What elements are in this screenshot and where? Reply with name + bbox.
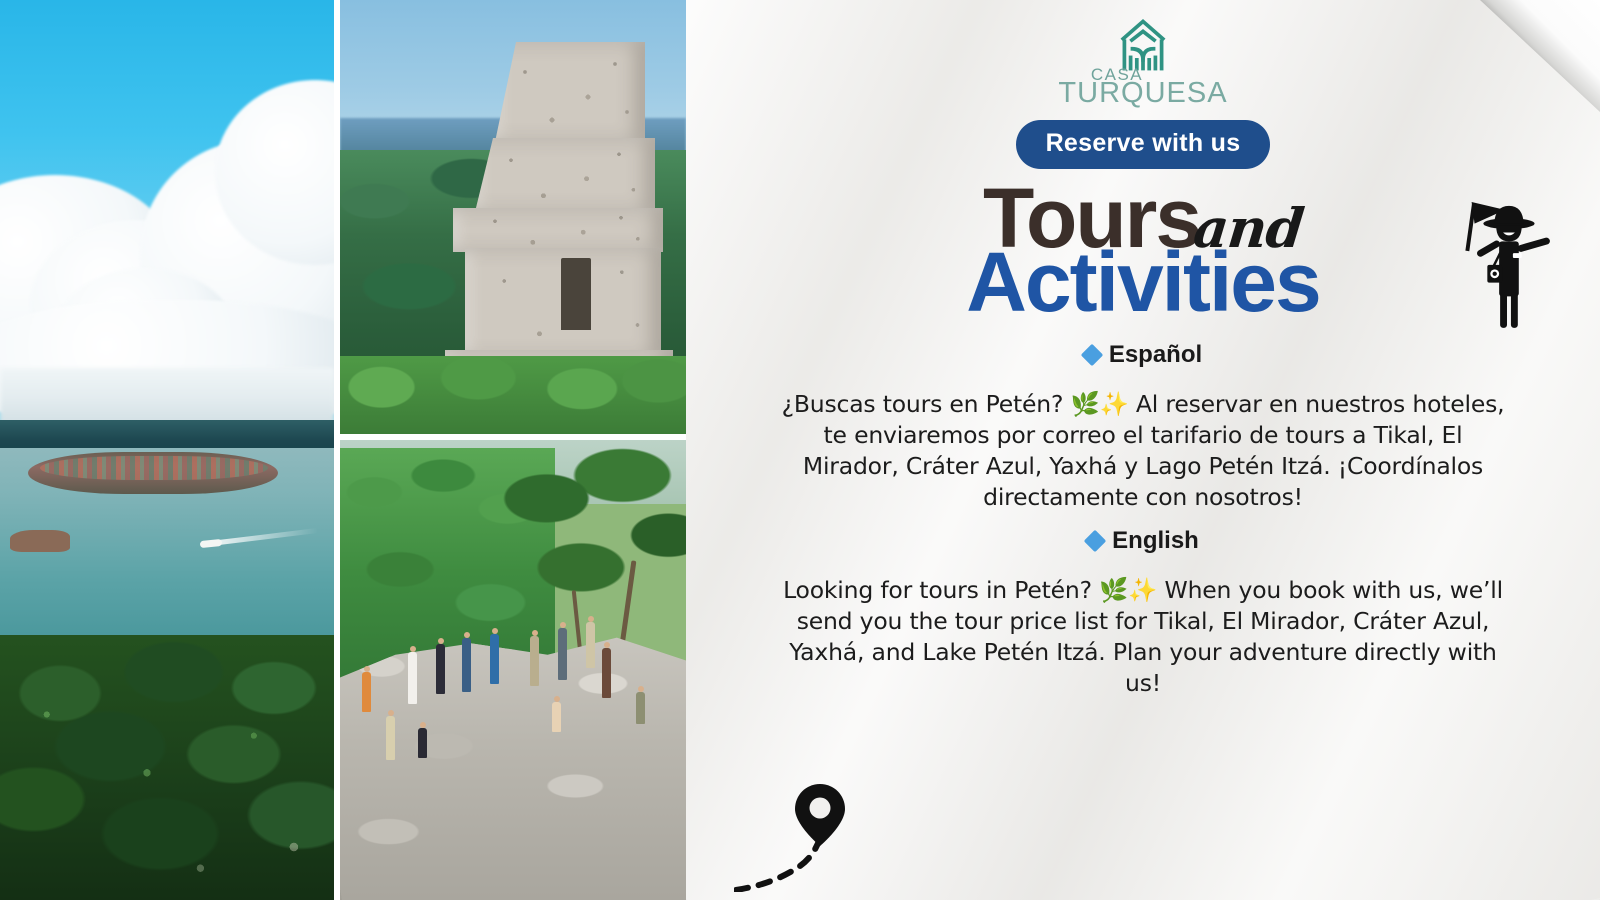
- temple-roof-comb-lower: [475, 138, 655, 212]
- brand-name: CASA TURQUESA: [1058, 66, 1227, 108]
- photo-lake-peten-itza-flores-aerial: [0, 0, 334, 900]
- tour-group-person: [386, 716, 395, 760]
- headline-line-1: Toursand: [983, 179, 1303, 258]
- temple-structure: [435, 42, 685, 382]
- page-curl-corner-icon: [1480, 0, 1600, 112]
- brand-name-top: CASA: [1032, 66, 1201, 83]
- section-heading-english: English: [686, 527, 1600, 555]
- herb-icon: 🌿: [1099, 576, 1128, 604]
- section-heading-spanish: Español: [686, 341, 1600, 369]
- herb-icon: 🌿: [1071, 390, 1100, 418]
- tour-guide-with-flag-icon: [1448, 185, 1566, 335]
- content-panel: CASA TURQUESA Reserve with us Toursand A…: [686, 0, 1600, 900]
- tour-group-person: [362, 672, 371, 712]
- photo-tour-group-on-pyramid: [340, 440, 686, 900]
- map-pin-with-trail: [734, 762, 964, 892]
- temple-roof-comb-upper: [495, 42, 645, 142]
- tour-group-person: [636, 692, 645, 724]
- blue-diamond-icon: [1084, 530, 1107, 553]
- tour-group-person: [602, 648, 611, 698]
- collage-column-left: [0, 0, 334, 900]
- photo-tikal-temple: [340, 0, 686, 434]
- section-title: Español: [1109, 341, 1202, 369]
- sparkle-icon: ✨: [1100, 390, 1129, 418]
- temple-doorway: [561, 258, 591, 330]
- jungle-canopy: [0, 635, 334, 900]
- tour-group-person: [490, 634, 499, 684]
- headline-word-tours: Tours: [983, 171, 1200, 265]
- tour-group-person: [586, 622, 595, 668]
- temple-cornice: [453, 208, 663, 252]
- foreground-trees: [340, 356, 686, 434]
- tour-group-person: [408, 652, 417, 704]
- section-title: English: [1112, 527, 1199, 555]
- tour-group-person: [558, 628, 567, 680]
- page-title: Toursand Activities: [686, 179, 1600, 321]
- blue-diamond-icon: [1080, 344, 1103, 367]
- reserve-with-us-button[interactable]: Reserve with us: [1016, 120, 1271, 169]
- brand-logo: CASA TURQUESA: [1058, 14, 1227, 108]
- tour-group-person: [418, 728, 427, 758]
- section-body-spanish: ¿Buscas tours en Petén? 🌿✨ Al reservar e…: [773, 389, 1513, 513]
- tour-group-person: [462, 638, 471, 692]
- jetty: [10, 530, 70, 552]
- collage-column-right: [340, 0, 686, 900]
- flores-island: [28, 452, 278, 494]
- tours-and-activities-poster: CASA TURQUESA Reserve with us Toursand A…: [0, 0, 1600, 900]
- language-section-spanish: Español ¿Buscas tours en Petén? 🌿✨ Al re…: [686, 327, 1600, 513]
- body-text-before: ¿Buscas tours en Petén?: [782, 390, 1071, 418]
- headline-word-and: and: [1191, 203, 1305, 254]
- photo-collage: [0, 0, 686, 900]
- tour-group-person: [552, 702, 561, 732]
- sparkle-icon: ✨: [1128, 576, 1157, 604]
- map-location-pin-icon: [795, 784, 845, 846]
- dashed-trail-icon: [736, 838, 820, 890]
- tour-group-person: [436, 644, 445, 694]
- section-body-english: Looking for tours in Petén? 🌿✨ When you …: [773, 575, 1513, 699]
- body-text-before: Looking for tours in Petén?: [783, 576, 1099, 604]
- language-section-english: English Looking for tours in Petén? 🌿✨ W…: [686, 513, 1600, 699]
- tour-group-person: [530, 636, 539, 686]
